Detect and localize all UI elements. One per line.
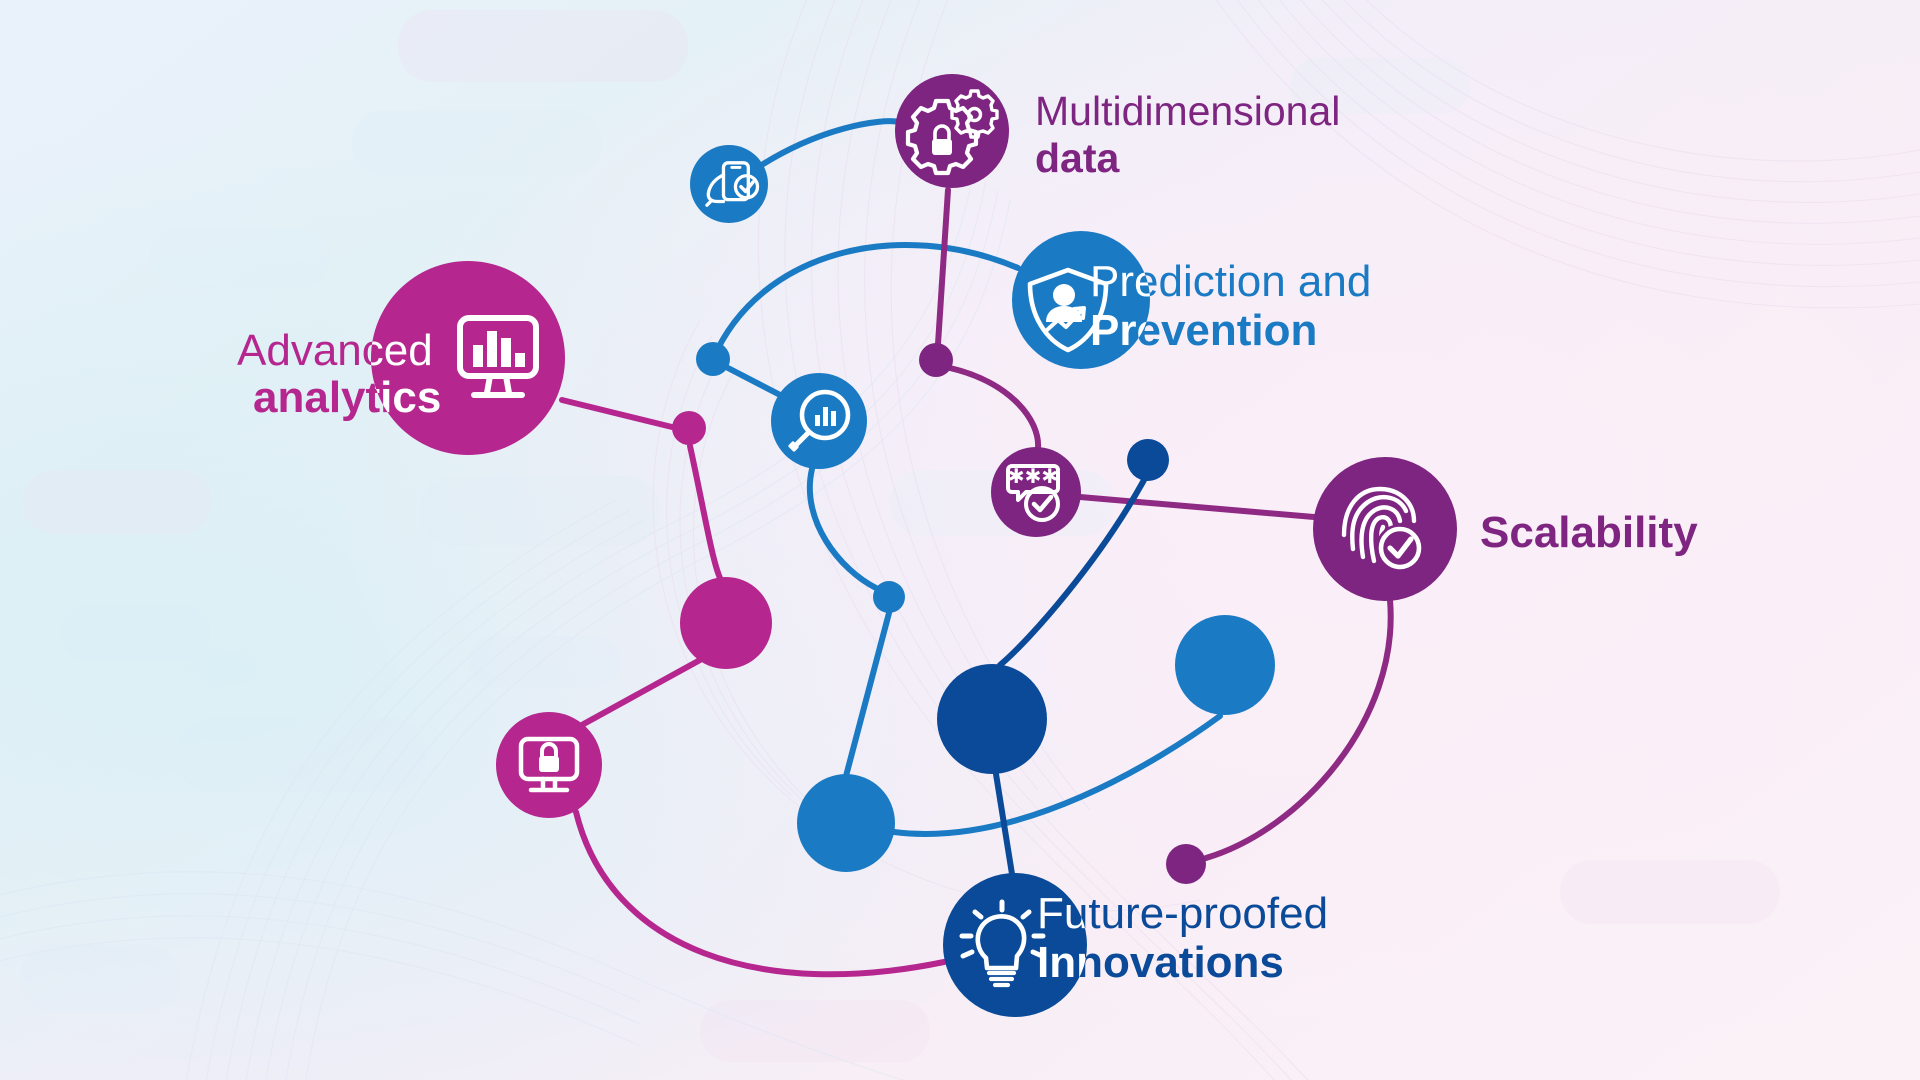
node-future-proofed-innovations[interactable]: Future-proofed Innovations Future-proofe…	[943, 873, 1328, 1017]
node-password-verified[interactable]: ✱✱✱	[991, 447, 1081, 537]
edges-group	[562, 121, 1391, 974]
dot-blue-mid-left[interactable]	[696, 342, 730, 376]
edge-blob-magenta-to-secure-monitor	[580, 660, 700, 726]
label-line-1-knockout: Advanced	[237, 326, 433, 375]
node-prediction-and-prevention[interactable]: Prediction and Prevention Prediction and…	[1012, 231, 1371, 369]
edge-dot-blue-low-to-blob-blue-left	[846, 613, 889, 776]
node-circle	[1313, 457, 1457, 601]
infographic-canvas: ✱✱✱	[0, 0, 1920, 1080]
advanced-analytics-label: Advanced analytics Advanced analytics	[237, 326, 441, 422]
label-line-2-knockout: Innovations	[1037, 938, 1284, 987]
dot-purple-bottom[interactable]	[1166, 844, 1206, 884]
node-mobile-check[interactable]	[690, 145, 768, 223]
edge-dot-purple-to-password	[950, 368, 1038, 448]
edge-multidimensional-to-dot-purple	[938, 190, 948, 344]
network-graph-layer: ✱✱✱	[0, 0, 1920, 1080]
dot-purple-top[interactable]	[919, 343, 953, 377]
multidimensional-data-label: Multidimensional data Multidimensional d…	[1035, 88, 1340, 181]
label-line-2-knockout: Prevention	[1090, 306, 1317, 355]
label-line-1-knockout: Future-proofed	[1037, 889, 1328, 938]
node-advanced-analytics[interactable]: Advanced analytics Advanced analytics	[237, 261, 565, 455]
blob-darkblue-center[interactable]	[937, 664, 1047, 774]
edge-password-to-scalability	[1080, 497, 1314, 517]
future-proofed-innovations-label: Future-proofed Innovations Future-proofe…	[1037, 889, 1328, 987]
plain-nodes-group	[672, 342, 1275, 884]
node-secure-monitor[interactable]	[496, 712, 602, 818]
node-search-analytics[interactable]	[771, 373, 867, 469]
node-multidimensional-data[interactable]: Multidimensional data Multidimensional d…	[895, 74, 1340, 188]
blob-blue-right[interactable]	[1175, 615, 1275, 715]
svg-text:✱✱✱: ✱✱✱	[1008, 466, 1058, 488]
edge-dot-blue-to-search	[728, 368, 786, 398]
prediction-and-prevention-label: Prediction and Prevention Prediction and…	[1090, 257, 1371, 355]
label-line-1-knockout: Multidimensional	[1035, 88, 1340, 134]
edge-mobile-to-multidimensional	[760, 121, 900, 166]
dot-magenta-left[interactable]	[672, 411, 706, 445]
blob-blue-left[interactable]	[797, 774, 895, 872]
edge-search-to-dot-blue-low	[810, 469, 876, 588]
edge-arc-left-to-prediction	[713, 245, 1018, 359]
scalability-label: Scalability	[1480, 508, 1698, 557]
dot-darkblue-right[interactable]	[1127, 439, 1169, 481]
label-line-2-knockout: data	[1035, 135, 1121, 181]
label-line-1-knockout: Prediction and	[1090, 257, 1371, 306]
node-scalability[interactable]: Scalability	[1313, 457, 1698, 601]
blob-magenta-mid[interactable]	[680, 577, 772, 669]
label-line-2-knockout: analytics	[253, 373, 441, 422]
dot-blue-small-low[interactable]	[873, 581, 905, 613]
edge-advanced-to-dot-magenta	[562, 400, 672, 427]
edge-dot-magenta-to-blob-magenta	[690, 446, 720, 578]
